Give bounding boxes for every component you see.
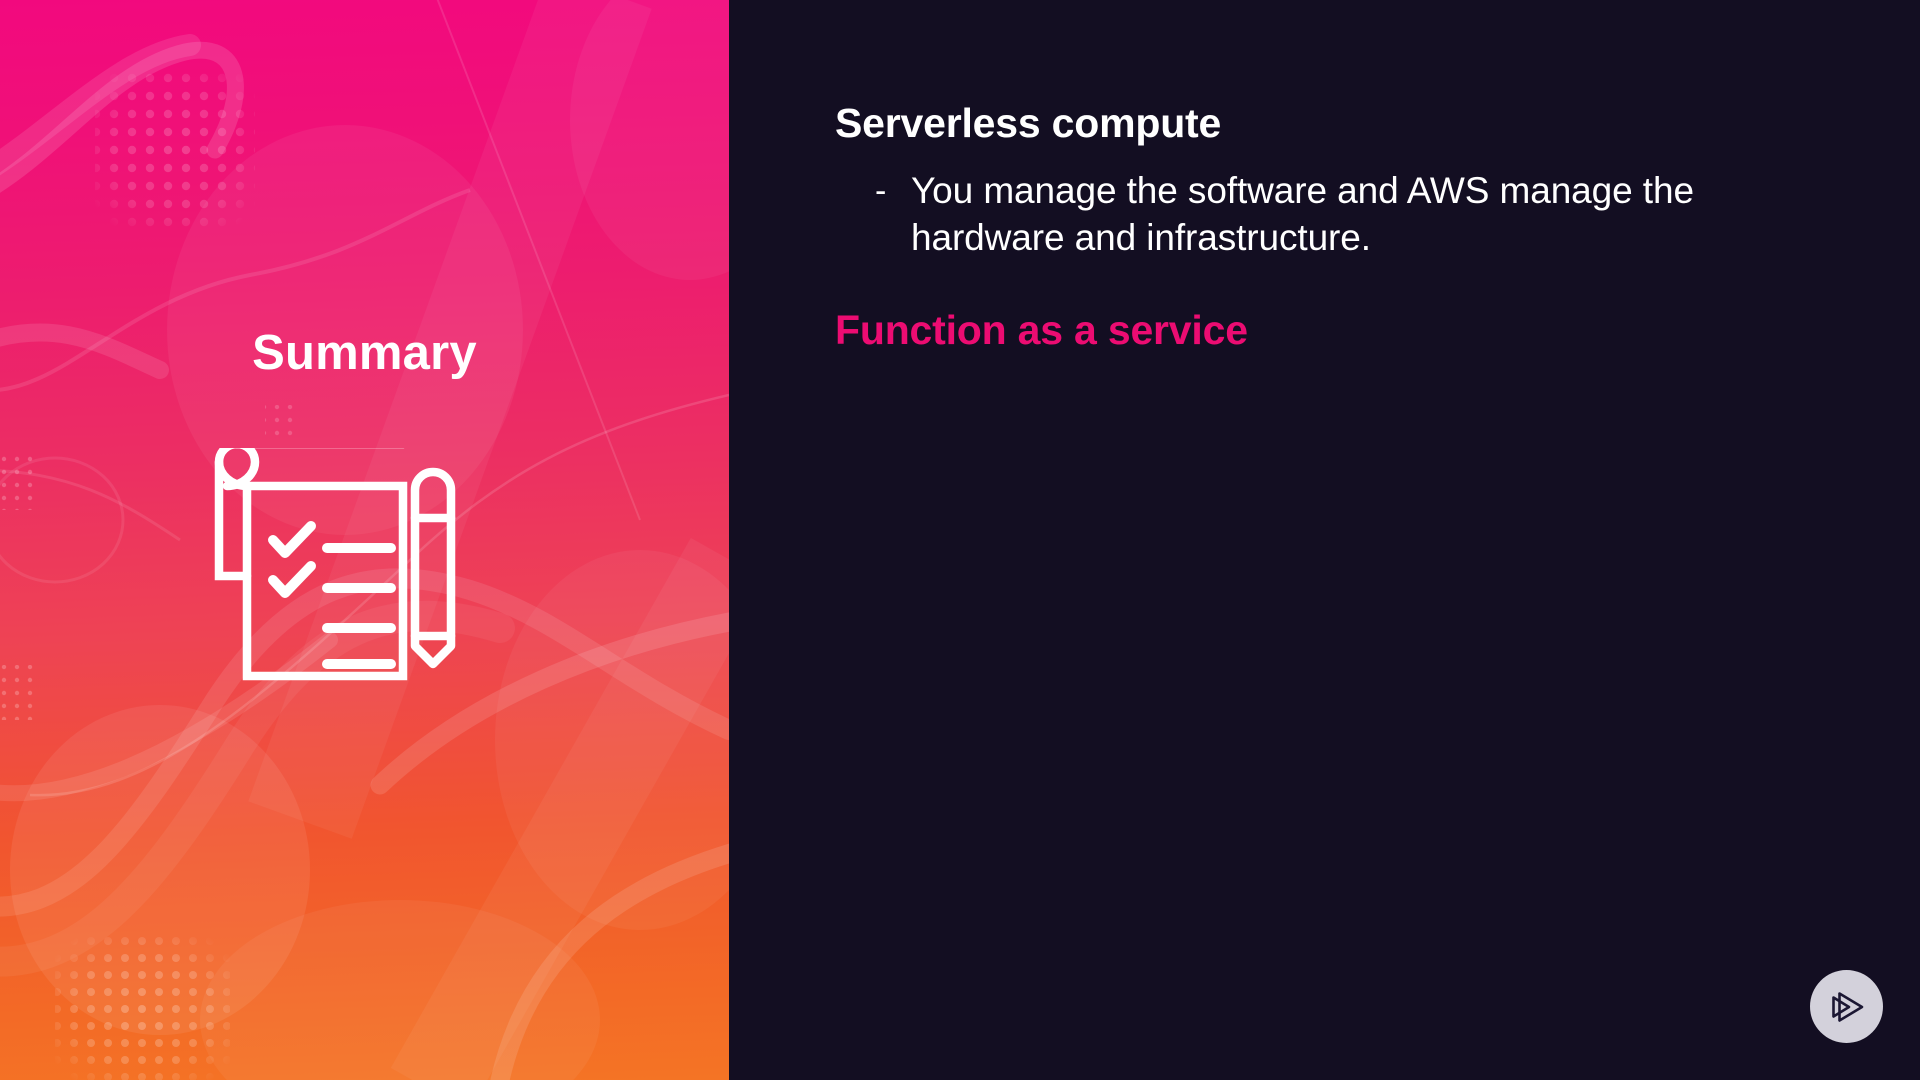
- section-subheading: Function as a service: [835, 307, 1855, 354]
- left-panel: Summary: [0, 0, 729, 1080]
- list-item: - You manage the software and AWS manage…: [835, 168, 1855, 262]
- bullet-marker: -: [875, 168, 911, 262]
- slide: Summary: [0, 0, 1920, 1080]
- slide-content: Serverless compute - You manage the soft…: [835, 100, 1855, 354]
- pluralsight-logo: [1810, 970, 1883, 1043]
- checklist-notepad-pen-icon: [205, 448, 525, 718]
- right-panel: Serverless compute - You manage the soft…: [729, 0, 1920, 1080]
- section-heading: Serverless compute: [835, 100, 1855, 147]
- bullet-text: You manage the software and AWS manage t…: [911, 168, 1855, 262]
- page-title: Summary: [0, 325, 729, 381]
